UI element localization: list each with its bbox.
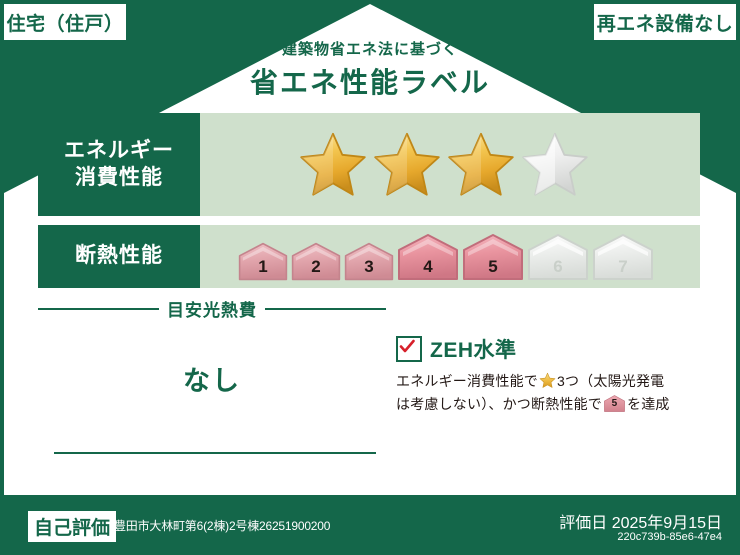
insulation-rank-1: 1	[238, 242, 288, 281]
star-icon-filled	[371, 129, 443, 201]
zeh-panel: ZEH水準 エネルギー消費性能で3つ（太陽光発電 は考慮しない）、かつ断熱性能で…	[386, 296, 700, 476]
row-energy-value	[200, 113, 700, 216]
house-badge-inline-number: 5	[604, 396, 625, 413]
row-insulation-label-text: 断熱性能	[75, 243, 163, 269]
insulation-rank-2: 2	[291, 242, 341, 281]
badge-renewable-energy: 再エネ設備なし	[594, 4, 736, 40]
insulation-rank-3: 3	[344, 242, 394, 281]
heading-rule-left	[38, 308, 159, 310]
title-main: 省エネ性能ラベル	[0, 61, 740, 101]
heading-rule-right	[265, 308, 386, 310]
row-energy-label-line2: 消費性能	[75, 165, 163, 191]
house-icon-empty	[592, 233, 654, 281]
row-insulation-label: 断熱性能	[38, 225, 200, 288]
house-icon-filled	[462, 233, 524, 281]
check-icon	[399, 339, 415, 355]
house-icon-filled	[291, 242, 341, 281]
zeh-desc-part3: を達成	[627, 396, 670, 412]
row-insulation-value: 1234567	[200, 225, 700, 288]
house-icon-empty	[527, 233, 589, 281]
evaluation-date: 評価日 2025年9月15日	[559, 509, 722, 533]
zeh-desc-star-count: 3つ（太陽光発電	[557, 373, 664, 389]
energy-performance-label: 住宅（住戸） 再エネ設備なし 建築物省エネ法に基づく 省エネ性能ラベル エネルギ…	[0, 0, 740, 555]
self-evaluation-badge: 自己評価	[28, 511, 116, 542]
zeh-desc-part1: エネルギー消費性能で	[396, 373, 538, 389]
utility-cost-heading: 目安光熱費	[38, 296, 386, 321]
insulation-rank-7: 7	[592, 233, 654, 281]
star-rating	[297, 129, 591, 201]
utility-cost-heading-text: 目安光熱費	[159, 296, 265, 321]
zeh-title: ZEH水準	[430, 334, 517, 364]
utility-cost-value: なし	[38, 359, 386, 398]
zeh-heading: ZEH水準	[396, 334, 700, 364]
metric-rows: エネルギー 消費性能 断熱性能 1234567	[38, 113, 700, 297]
lower-section: 目安光熱費 なし ZEH水準 エネルギー消費性能で3つ（太陽光発電 は考慮しない…	[38, 296, 700, 476]
row-energy-label-line1: エネルギー	[64, 138, 174, 164]
badge-building-type: 住宅（住戸）	[4, 4, 126, 40]
star-icon-empty	[519, 129, 591, 201]
label-footer: 自己評価 豊田市大林町第6(2棟)2号棟26251900200 評価日 2025…	[0, 499, 740, 555]
row-energy-label: エネルギー 消費性能	[38, 113, 200, 216]
row-energy-performance: エネルギー 消費性能	[38, 113, 700, 216]
utility-cost-panel: 目安光熱費 なし	[38, 296, 386, 476]
star-icon-filled	[297, 129, 369, 201]
house-icon-filled	[344, 242, 394, 281]
evaluation-id: 220c739b-85e6-47e4	[617, 531, 722, 543]
star-icon-filled	[445, 129, 517, 201]
insulation-rank-5: 5	[462, 233, 524, 281]
zeh-desc-part2: は考慮しない）、かつ断熱性能で	[396, 396, 602, 412]
zeh-checkbox	[396, 336, 422, 362]
utility-cost-bottom-rule	[54, 452, 376, 454]
insulation-rank-6: 6	[527, 233, 589, 281]
insulation-rank-scale: 1234567	[238, 233, 654, 281]
house-icon-filled	[397, 233, 459, 281]
row-insulation-performance: 断熱性能 1234567	[38, 225, 700, 288]
label-title: 建築物省エネ法に基づく 省エネ性能ラベル	[0, 38, 740, 101]
house-icon-filled	[238, 242, 288, 281]
title-subtitle: 建築物省エネ法に基づく	[0, 38, 740, 59]
zeh-description: エネルギー消費性能で3つ（太陽光発電 は考慮しない）、かつ断熱性能で5を達成	[396, 370, 700, 416]
house-badge-inline: 5	[604, 395, 625, 412]
insulation-rank-4: 4	[397, 233, 459, 281]
property-address: 豊田市大林町第6(2棟)2号棟26251900200	[114, 517, 330, 534]
star-icon-inline	[539, 372, 556, 389]
